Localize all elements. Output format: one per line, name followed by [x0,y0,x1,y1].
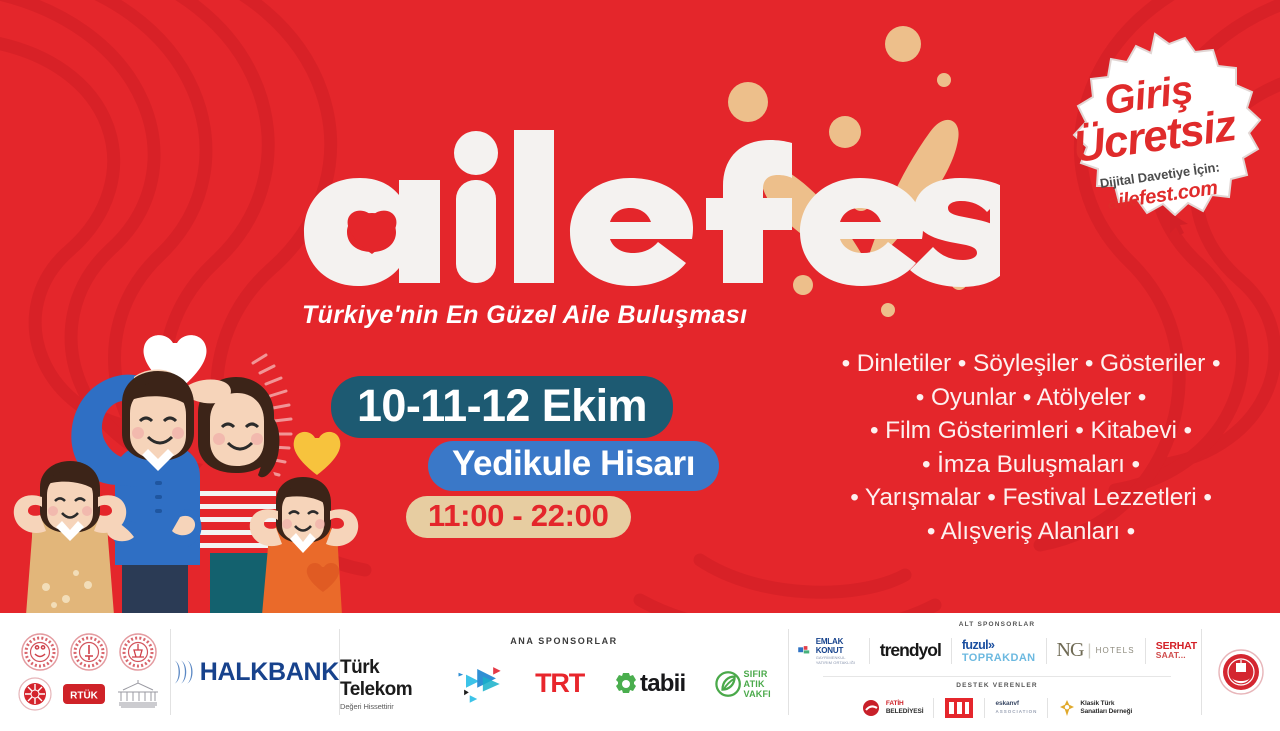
rtuk-logo: RTÜK [62,683,106,705]
activities-line-3: • Film Gösterimleri • Kitabevi • [800,414,1262,448]
turk-telekom-logo: Türk Telekom Değeri Hissettirir [340,657,505,711]
fuzul-toprakdan-logo: fuzul» TOPRAKDAN [962,638,1036,664]
halkbank-mark-icon [171,657,200,687]
fatih-mark-icon [862,699,882,717]
ng-hotels-logo: NG | HOTELS [1057,639,1135,662]
ng-label: NG [1057,639,1084,662]
ailefest-wordmark [300,120,1000,305]
fatih-label-2: BELEDİYESİ [886,708,924,716]
sile-logo [944,697,974,719]
turk-telekom-mark-icon [451,662,505,706]
hotels-label: HOTELS [1096,646,1135,655]
institution-logos-group: RTÜK [0,613,170,731]
tabii-logo: tabii [614,670,685,698]
ministry-seal-3 [118,632,158,672]
event-dates-pill: 10-11-12 Ekim [331,376,673,438]
klasik-label-1: Klasik Türk [1080,700,1132,708]
turk-telekom-slogan: Değeri Hissettirir [340,702,449,711]
support-label: DESTEK VERENLER [797,682,1197,689]
activities-line-1: • Dinletiler • Söyleşiler • Gösteriler • [800,347,1262,381]
tabii-label: tabii [640,670,685,698]
sifir-atik-label-1: SIFIR ATIK [744,669,788,689]
activities-list: • Dinletiler • Söyleşiler • Gösteriler •… [800,347,1262,548]
ministry-seal-2 [69,632,109,672]
activities-line-6: • Alışveriş Alanları • [800,515,1262,549]
halkbank-label: HALKBANK [200,658,339,687]
trendyol-logo: trendyol [880,640,941,661]
main-sponsors-group: ANA SPONSORLAR Türk Telekom Değeri Hisse… [340,613,788,731]
institution-seal-icon [1217,648,1265,696]
event-hours-pill: 11:00 - 22:00 [406,496,631,538]
saat-label: SAAT... [1156,651,1197,660]
activities-line-2: • Oyunlar • Atölyeler • [800,381,1262,415]
halkbank-logo: HALKBANK [171,613,339,731]
eskanvf-label-2: ASSOCIATION [995,708,1037,716]
event-venue-pill: Yedikule Hisarı [428,441,719,491]
sifir-atik-leaf-icon [715,670,741,698]
svg-text:RTÜK: RTÜK [70,689,99,702]
culture-seal [17,676,53,712]
tabii-mark-icon [614,672,638,696]
emlak-konut-label: EMLAK KONUT [816,637,859,655]
emlak-konut-mark-icon [797,641,812,661]
turk-telekom-label: Türk Telekom [340,657,449,701]
festival-poster: Türkiye'nin En Güzel Aile Buluşması Giri… [0,0,1280,731]
klasik-label-2: Sanatları Derneği [1080,708,1132,716]
activities-line-4: • İmza Buluşmaları • [800,448,1262,482]
serhat-saat-logo: SERHAT SAAT... [1156,641,1197,660]
activities-line-5: • Yarışmalar • Festival Lezzetleri • [800,481,1262,515]
family-making-hearts-illustration [10,315,360,613]
fatih-belediyesi-logo: FATİH BELEDİYESİ [862,699,924,717]
divider [823,676,1171,677]
klasik-turk-sanatlari-logo: Klasik Türk Sanatları Derneği [1058,699,1132,717]
emlak-konut-sublabel: GAYRİMENKUL YATIRIM ORTAKLIĞI [816,655,859,665]
free-entry-badge: Giriş Ücretsiz Dijital Davetiye İçin: ai… [1040,28,1270,256]
cursor-arrow-icon [1168,211,1190,237]
institution-seal-red [1202,613,1280,731]
emlak-konut-logo: EMLAK KONUT GAYRİMENKUL YATIRIM ORTAKLIĞ… [797,637,859,665]
sub-sponsors-label: ALT SPONSORLAR [797,621,1197,628]
eskanvf-label-1: eskanvf [995,700,1037,708]
ministry-seal-1 [20,632,60,672]
trt-logo: TRT [535,668,584,699]
sponsor-bar: RTÜK HALKBANK [0,613,1280,731]
main-sponsors-label: ANA SPONSORLAR [510,636,618,646]
klasik-mark-icon [1058,699,1076,717]
sub-sponsors-group: ALT SPONSORLAR EMLAK KONUT GAYRİMENKUL Y… [789,613,1201,731]
fatih-label-1: FATİH [886,700,924,708]
sifir-atik-vakfi-logo: SIFIR ATIK VAKFI [715,669,788,699]
istanbul-museum-logo [115,677,161,711]
sifir-atik-label-2: VAKFI [744,689,788,699]
toprakdan-label: TOPRAKDAN [962,652,1036,664]
poster-artwork-area: Türkiye'nin En Güzel Aile Buluşması Giri… [0,0,1280,613]
eskanvf-logo: eskanvf ASSOCIATION [995,700,1037,715]
heart-icon [294,432,341,475]
poster-tagline: Türkiye'nin En Güzel Aile Buluşması [302,301,748,330]
fuzul-label: fuzul» [962,638,1036,652]
